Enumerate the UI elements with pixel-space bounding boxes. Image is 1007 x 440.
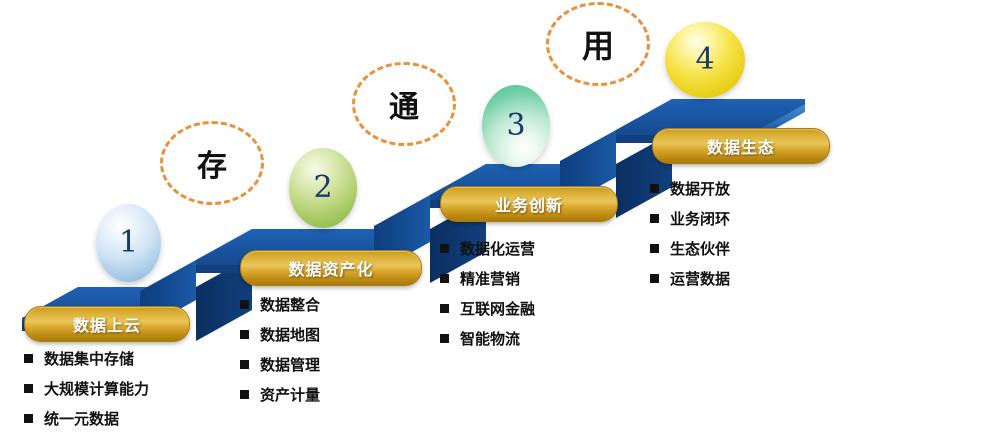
bullet-square-icon bbox=[240, 330, 249, 339]
step-number-badge-3: 3 bbox=[482, 85, 550, 167]
keyword-ellipse-tong: 通 bbox=[352, 62, 456, 146]
bullet-text: 互联网金融 bbox=[460, 298, 535, 319]
bullet-square-icon bbox=[650, 244, 659, 253]
list-item: 互联网金融 bbox=[440, 298, 535, 319]
bullet-square-icon bbox=[440, 334, 449, 343]
list-item: 统一元数据 bbox=[24, 408, 149, 429]
list-item: 数据化运营 bbox=[440, 238, 535, 259]
bullet-text: 数据管理 bbox=[260, 354, 320, 375]
step-number-3: 3 bbox=[506, 108, 525, 143]
bullet-text: 数据地图 bbox=[260, 324, 320, 345]
bullet-text: 精准营销 bbox=[460, 268, 520, 289]
step-label-pill-1[interactable]: 数据上云 bbox=[24, 306, 190, 342]
bullet-square-icon bbox=[240, 390, 249, 399]
bullet-text: 数据整合 bbox=[260, 294, 320, 315]
step-bullets-4: 数据开放 业务闭环 生态伙伴 运营数据 bbox=[650, 178, 730, 298]
list-item: 精准营销 bbox=[440, 268, 535, 289]
list-item: 生态伙伴 bbox=[650, 238, 730, 259]
step-label-pill-2[interactable]: 数据资产化 bbox=[240, 250, 422, 286]
bullet-square-icon bbox=[650, 184, 659, 193]
keyword-char-cun: 存 bbox=[197, 141, 227, 185]
step-number-badge-2: 2 bbox=[289, 148, 357, 228]
list-item: 数据集中存储 bbox=[24, 348, 149, 369]
bullet-text: 智能物流 bbox=[460, 328, 520, 349]
bullet-square-icon bbox=[24, 354, 33, 363]
list-item: 大规模计算能力 bbox=[24, 378, 149, 399]
bullet-square-icon bbox=[440, 274, 449, 283]
bullet-text: 业务闭环 bbox=[670, 208, 730, 229]
step-label-4: 数据生态 bbox=[707, 134, 775, 158]
step-number-badge-1: 1 bbox=[96, 204, 161, 282]
list-item: 数据地图 bbox=[240, 324, 320, 345]
bullet-text: 统一元数据 bbox=[44, 408, 119, 429]
list-item: 数据管理 bbox=[240, 354, 320, 375]
step-number-4: 4 bbox=[695, 42, 714, 77]
step-bullets-3: 数据化运营 精准营销 互联网金融 智能物流 bbox=[440, 238, 535, 358]
list-item: 运营数据 bbox=[650, 268, 730, 289]
bullet-square-icon bbox=[650, 214, 659, 223]
bullet-square-icon bbox=[24, 384, 33, 393]
list-item: 数据开放 bbox=[650, 178, 730, 199]
step-number-badge-4: 4 bbox=[665, 22, 745, 98]
step-bullets-1: 数据集中存储 大规模计算能力 统一元数据 bbox=[24, 348, 149, 438]
step-label-2: 数据资产化 bbox=[288, 256, 373, 280]
bullet-square-icon bbox=[240, 360, 249, 369]
keyword-ellipse-cun: 存 bbox=[160, 121, 264, 205]
bullet-text: 大规模计算能力 bbox=[44, 378, 149, 399]
bullet-square-icon bbox=[24, 414, 33, 423]
step-label-3: 业务创新 bbox=[495, 192, 563, 216]
list-item: 业务闭环 bbox=[650, 208, 730, 229]
staircase-diagram: 存 通 用 1 2 3 4 数据上云 数据资产化 业务创新 数据生态 数据集中存… bbox=[0, 0, 1007, 440]
bullet-text: 生态伙伴 bbox=[670, 238, 730, 259]
step-number-2: 2 bbox=[313, 170, 332, 205]
step-label-pill-3[interactable]: 业务创新 bbox=[440, 186, 618, 222]
keyword-char-yong: 用 bbox=[582, 21, 614, 67]
step-bullets-2: 数据整合 数据地图 数据管理 资产计量 bbox=[240, 294, 320, 414]
bullet-text: 数据集中存储 bbox=[44, 348, 134, 369]
bullet-text: 数据化运营 bbox=[460, 238, 535, 259]
step-number-1: 1 bbox=[119, 225, 138, 260]
list-item: 数据整合 bbox=[240, 294, 320, 315]
bullet-square-icon bbox=[240, 300, 249, 309]
keyword-char-tong: 通 bbox=[389, 82, 419, 126]
bullet-square-icon bbox=[440, 304, 449, 313]
bullet-text: 资产计量 bbox=[260, 384, 320, 405]
bullet-text: 运营数据 bbox=[670, 268, 730, 289]
bullet-square-icon bbox=[650, 274, 659, 283]
bullet-square-icon bbox=[440, 244, 449, 253]
list-item: 资产计量 bbox=[240, 384, 320, 405]
bullet-text: 数据开放 bbox=[670, 178, 730, 199]
keyword-ellipse-yong: 用 bbox=[546, 2, 650, 86]
step-label-pill-4[interactable]: 数据生态 bbox=[652, 128, 830, 164]
list-item: 智能物流 bbox=[440, 328, 535, 349]
step-label-1: 数据上云 bbox=[73, 312, 141, 336]
